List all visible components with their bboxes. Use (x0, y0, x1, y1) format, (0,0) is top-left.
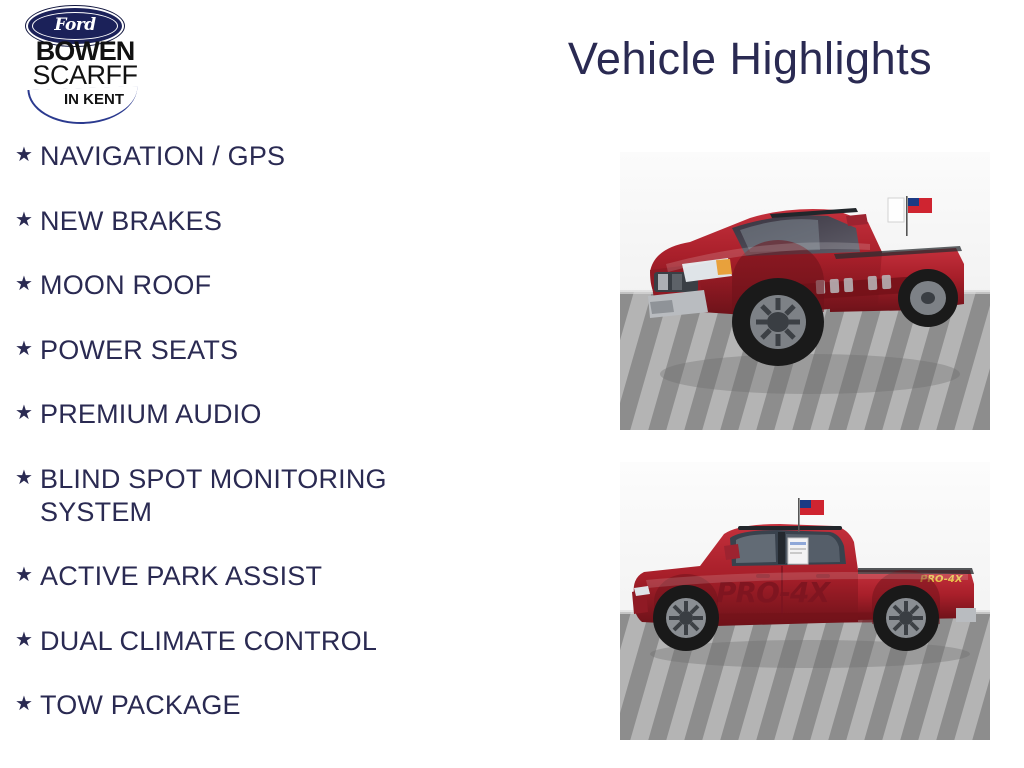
list-item: ★ POWER SEATS (8, 334, 508, 367)
star-bullet-icon: ★ (8, 463, 40, 493)
highlight-label: ACTIVE PARK ASSIST (40, 560, 460, 593)
list-item: ★ NAVIGATION / GPS (8, 140, 508, 173)
star-bullet-icon: ★ (8, 269, 40, 299)
highlight-label: MOON ROOF (40, 269, 460, 302)
list-item: ★ ACTIVE PARK ASSIST (8, 560, 508, 593)
list-item: ★ NEW BRAKES (8, 205, 508, 238)
list-item: ★ TOW PACKAGE (8, 689, 508, 722)
highlight-label: TOW PACKAGE (40, 689, 460, 722)
page-title: Vehicle Highlights (500, 34, 1000, 84)
logo-line-in-kent: IN KENT (36, 92, 152, 107)
slide-canvas: Ford BOWEN SCARFF IN KENT Vehicle Highli… (0, 0, 1024, 768)
star-bullet-icon: ★ (8, 625, 40, 655)
list-item: ★ DUAL CLIMATE CONTROL (8, 625, 508, 658)
highlight-label: BLIND SPOT MONITORING SYSTEM (40, 463, 460, 529)
highlight-label: NAVIGATION / GPS (40, 140, 460, 173)
star-bullet-icon: ★ (8, 398, 40, 428)
highlight-label: POWER SEATS (40, 334, 460, 367)
dealer-logo: Ford BOWEN SCARFF IN KENT (8, 2, 160, 120)
vehicle-photo-front-quarter[interactable] (620, 152, 990, 430)
ford-wordmark: Ford (54, 17, 95, 34)
highlight-label: PREMIUM AUDIO (40, 398, 460, 431)
list-item: ★ BLIND SPOT MONITORING SYSTEM (8, 463, 508, 529)
star-bullet-icon: ★ (8, 334, 40, 364)
list-item: ★ MOON ROOF (8, 269, 508, 302)
star-bullet-icon: ★ (8, 689, 40, 719)
logo-line-scarff: SCARFF (18, 62, 152, 89)
star-bullet-icon: ★ (8, 205, 40, 235)
list-item: ★ PREMIUM AUDIO (8, 398, 508, 431)
star-bullet-icon: ★ (8, 560, 40, 590)
star-bullet-icon: ★ (8, 140, 40, 170)
vehicle-highlights-list: ★ NAVIGATION / GPS ★ NEW BRAKES ★ MOON R… (8, 140, 508, 754)
highlight-label: NEW BRAKES (40, 205, 460, 238)
vehicle-photo-side-profile[interactable]: PRO-4X PRO-4X (620, 462, 990, 740)
highlight-label: DUAL CLIMATE CONTROL (40, 625, 460, 658)
